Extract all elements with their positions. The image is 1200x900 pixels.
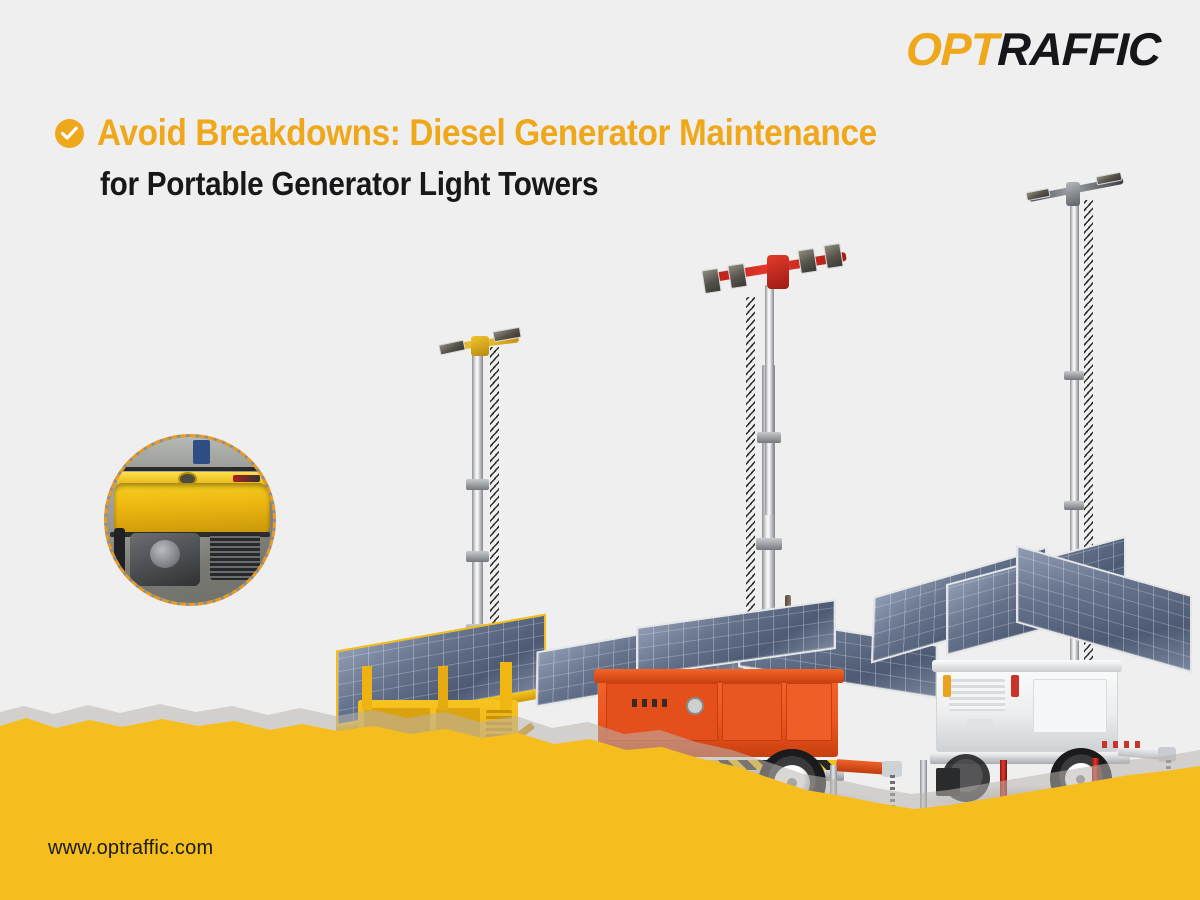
headline-line-1: Avoid Breakdowns: Diesel Generator Maint… bbox=[97, 112, 877, 154]
flood-lamp bbox=[438, 339, 466, 355]
generator-control-panel bbox=[233, 475, 260, 482]
light-head-assembly bbox=[1022, 168, 1132, 206]
flood-lamp bbox=[823, 243, 844, 269]
generator-air-grille bbox=[210, 533, 260, 579]
inset-blue-object bbox=[193, 440, 210, 463]
website-url[interactable]: www.optraffic.com bbox=[48, 837, 213, 860]
light-head-assembly bbox=[435, 322, 525, 358]
mast-collar bbox=[757, 432, 781, 443]
cabinet-roof-cap bbox=[594, 669, 844, 683]
yellow-band bbox=[0, 718, 1200, 900]
check-circle-icon bbox=[55, 119, 84, 148]
generator-yellow-tank bbox=[114, 483, 270, 533]
telescoping-mast bbox=[765, 285, 774, 515]
mast-collar bbox=[1064, 371, 1084, 380]
flood-lamp bbox=[797, 248, 818, 274]
mast-collar bbox=[1064, 501, 1084, 510]
mast-collar bbox=[466, 479, 489, 490]
generator-frame-top bbox=[110, 467, 269, 471]
flood-lamp bbox=[727, 263, 748, 289]
logo-text-raffic: RAFFIC bbox=[996, 22, 1161, 76]
inset-upper-surface bbox=[120, 437, 263, 470]
generator-carburetor bbox=[150, 540, 180, 568]
logo-text-opt: OPT bbox=[905, 22, 998, 76]
optraffic-logo: OPTRAFFIC bbox=[905, 22, 1161, 76]
light-head-assembly bbox=[695, 237, 855, 297]
generator-frame-leg bbox=[114, 528, 126, 591]
cabinet-roof-cap bbox=[932, 660, 1122, 672]
mast-collar bbox=[466, 551, 489, 562]
coiled-power-cable bbox=[490, 347, 499, 662]
inset-photo bbox=[107, 437, 273, 603]
torn-paper-footer: www.optraffic.com bbox=[0, 700, 1200, 900]
mast-collar bbox=[756, 538, 782, 550]
flood-lamp bbox=[701, 268, 722, 294]
marketing-banner: OPTRAFFIC Avoid Breakdowns: Diesel Gener… bbox=[0, 0, 1200, 900]
generator-photo-inset bbox=[104, 434, 276, 606]
telescoping-mast bbox=[472, 340, 483, 670]
